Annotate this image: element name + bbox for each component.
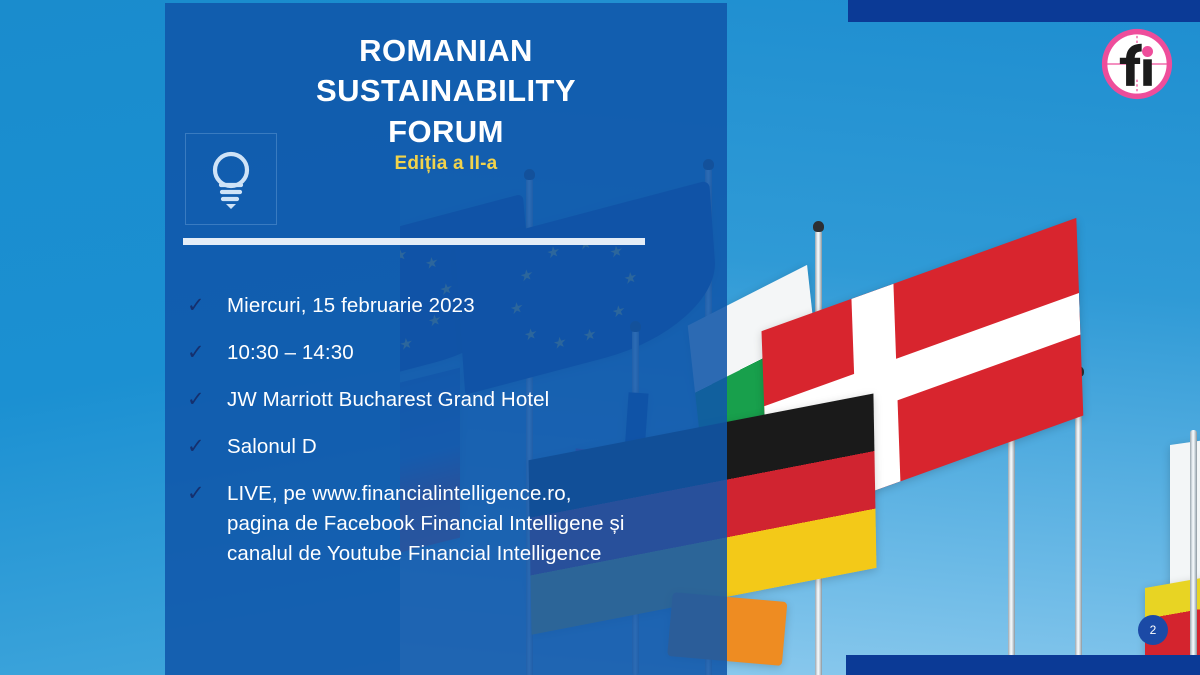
check-icon: ✓ — [187, 432, 227, 462]
list-item-label: LIVE, pe www.financialintelligence.ro, p… — [227, 479, 624, 569]
list-item-label: Miercuri, 15 februarie 2023 — [227, 291, 475, 321]
list-item-label: 10:30 – 14:30 — [227, 338, 354, 368]
check-icon: ✓ — [187, 291, 227, 321]
flagpole — [1075, 375, 1082, 675]
list-item: ✓ JW Marriott Bucharest Grand Hotel — [187, 385, 697, 415]
financial-intelligence-logo-icon — [1098, 25, 1176, 103]
list-item: ✓ Miercuri, 15 februarie 2023 — [187, 291, 697, 321]
list-item-label: Salonul D — [227, 432, 317, 462]
list-item: ✓ 10:30 – 14:30 — [187, 338, 697, 368]
subtitle: Ediția a II-a — [205, 153, 687, 175]
list-item: ✓ LIVE, pe www.financialintelligence.ro,… — [187, 479, 697, 569]
page-number-badge: 2 — [1138, 615, 1168, 645]
check-icon: ✓ — [187, 479, 227, 509]
presentation-slide: ★ ★ ★ ★ ★ ★ ★ ★ ★ ★ ★ ★ ★ ★ ★ ★ ★ — [0, 0, 1200, 675]
divider — [183, 238, 645, 245]
bottom-right-accent-bar — [846, 655, 1200, 675]
lightbulb-icon-frame — [185, 133, 277, 225]
list-item-label: JW Marriott Bucharest Grand Hotel — [227, 385, 549, 415]
top-right-accent-bar — [848, 0, 1200, 22]
flagpole — [1190, 430, 1197, 675]
details-list: ✓ Miercuri, 15 februarie 2023 ✓ 10:30 – … — [187, 291, 697, 586]
page-title: ROMANIAN SUSTAINABILITY FORUM — [205, 31, 687, 152]
check-icon: ✓ — [187, 338, 227, 368]
content-panel: ROMANIAN SUSTAINABILITY FORUM Ediția a I… — [165, 3, 727, 675]
check-icon: ✓ — [187, 385, 227, 415]
list-item: ✓ Salonul D — [187, 432, 697, 462]
